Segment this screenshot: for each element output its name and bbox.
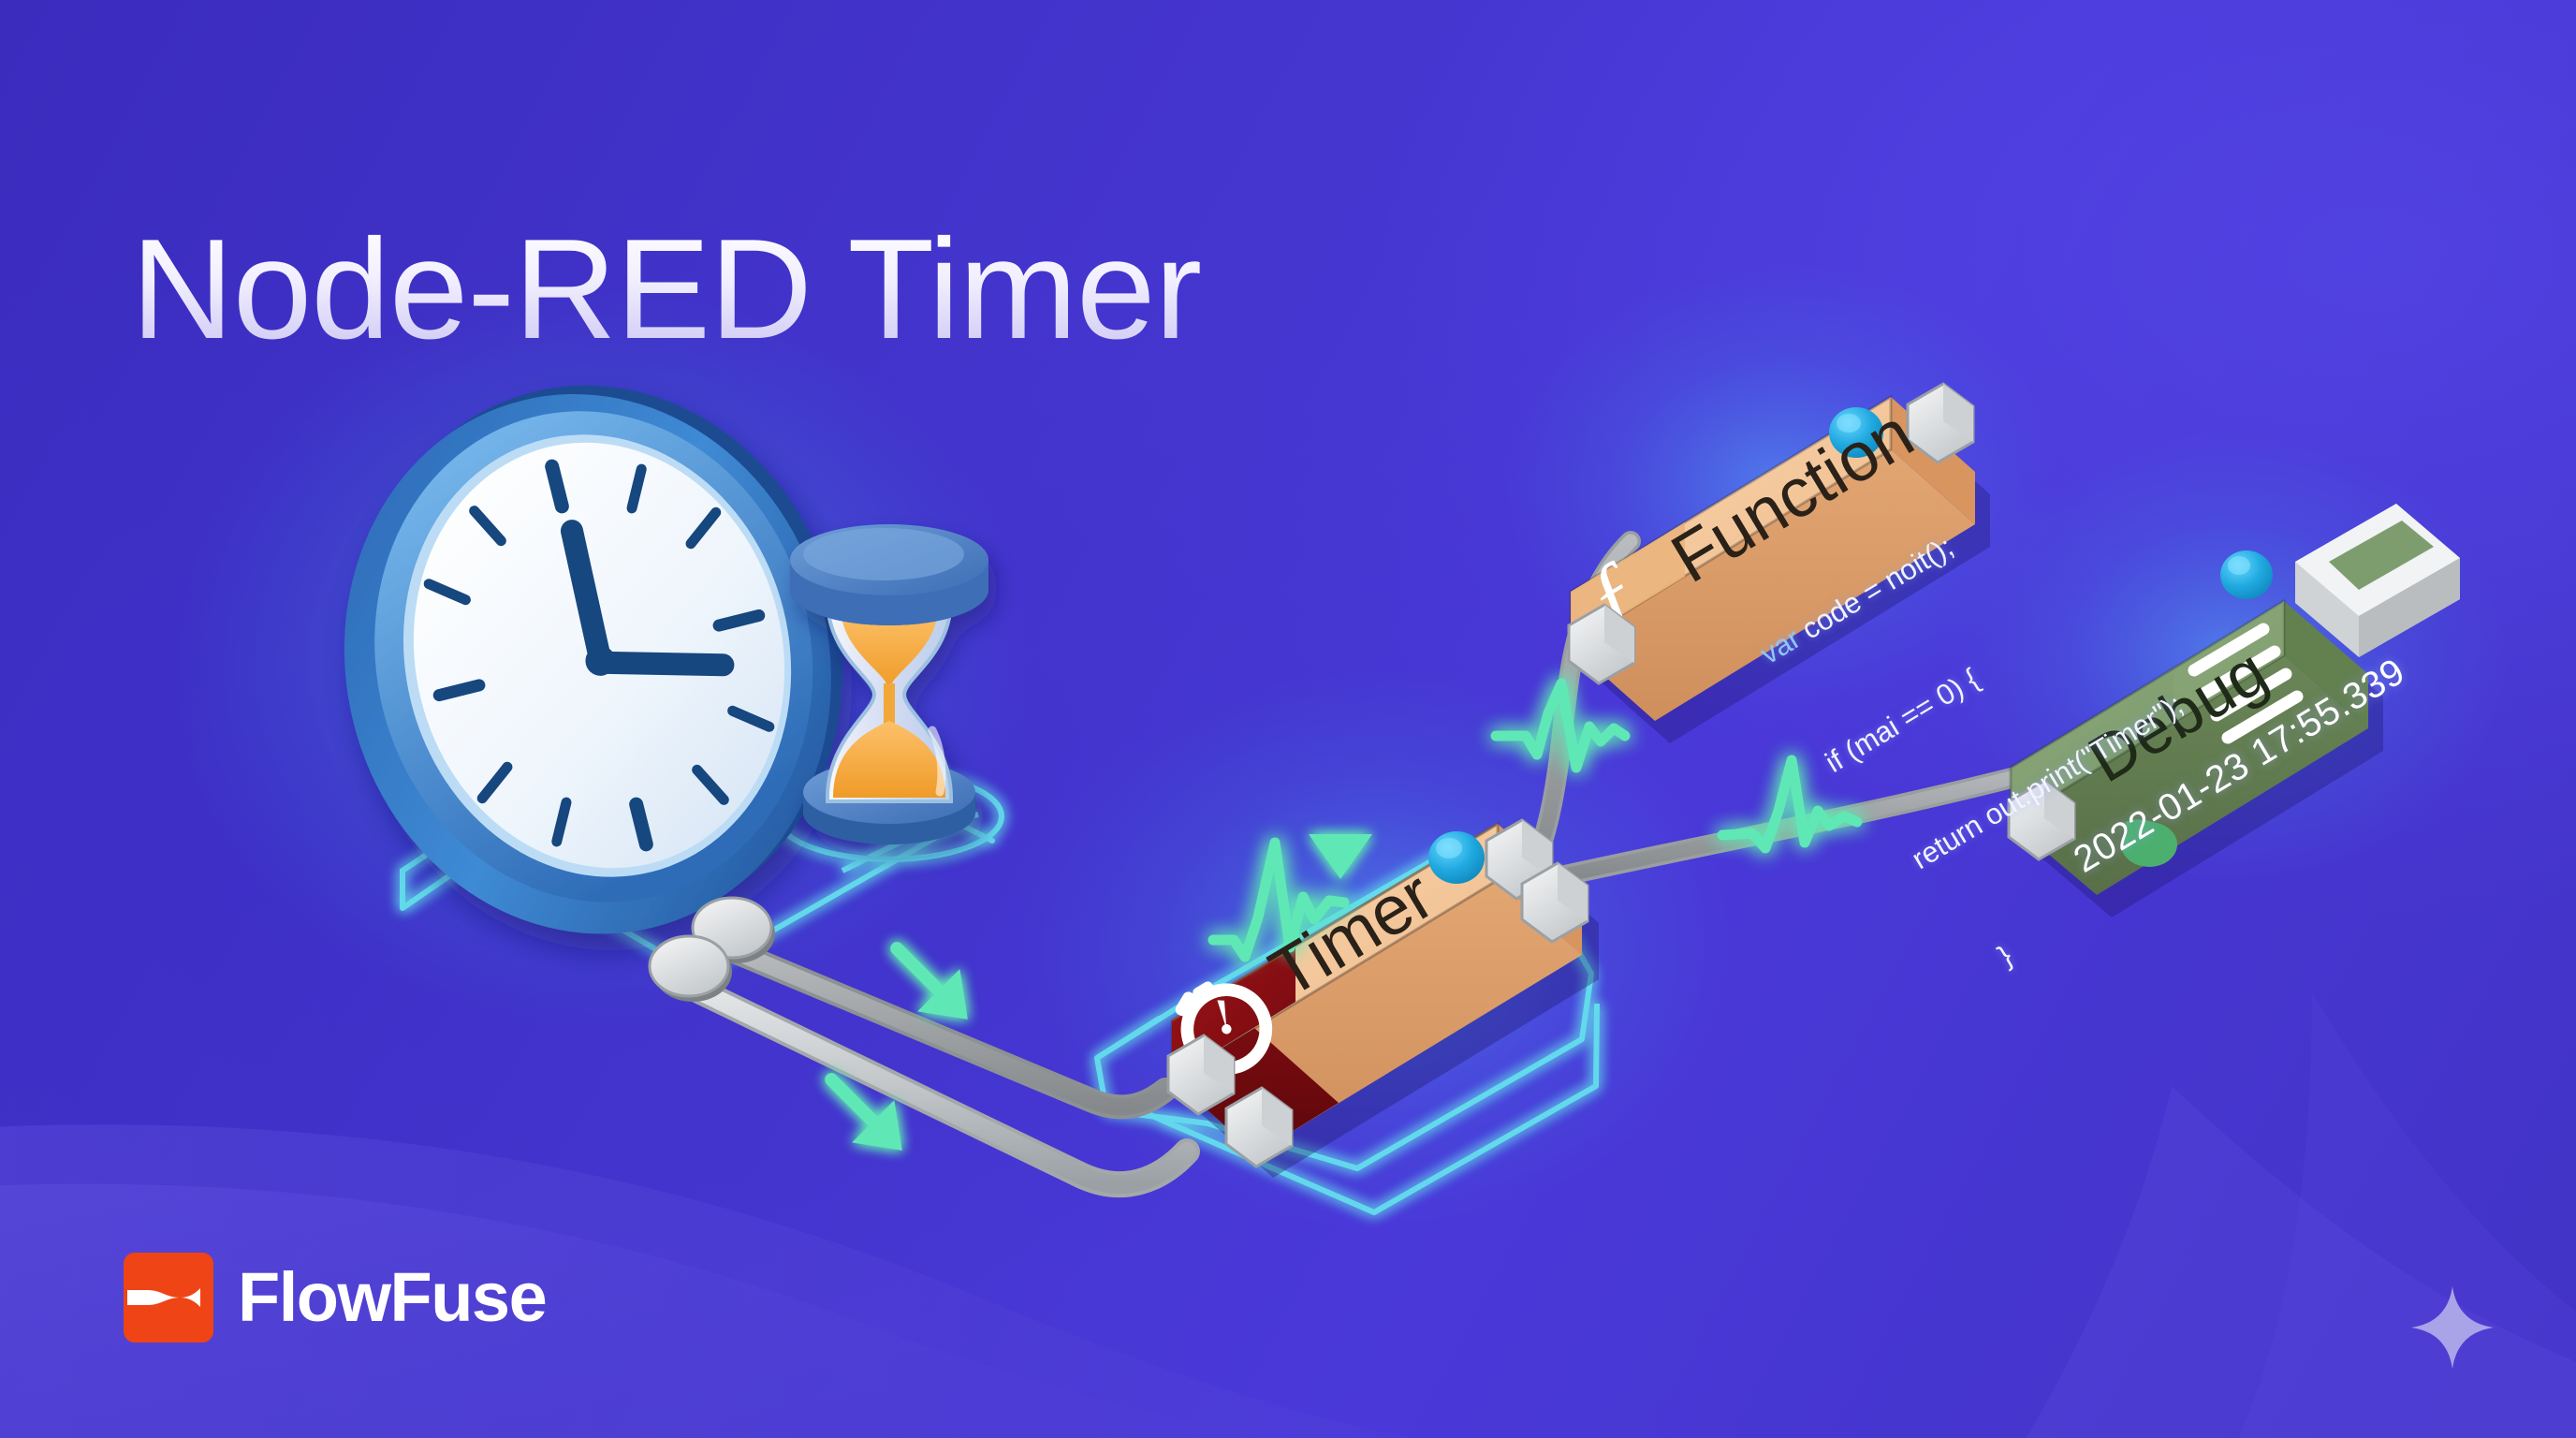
hero-illustration: Node-RED Timer xyxy=(0,0,2576,1438)
flowfuse-wordmark: FlowFuse xyxy=(238,1263,546,1332)
debug-status-dot xyxy=(2220,550,2273,599)
analog-clock xyxy=(286,333,900,986)
code-line-1: code = noit(); xyxy=(1789,530,1958,650)
flowfuse-logo[interactable]: FlowFuse xyxy=(124,1253,546,1343)
function-status-dot xyxy=(1829,407,1883,458)
flowfuse-mark-icon xyxy=(124,1253,213,1343)
sparkle-icon xyxy=(2409,1284,2495,1371)
timer-status-dot xyxy=(1428,831,1485,884)
page-title: Node-RED Timer xyxy=(131,215,1201,365)
